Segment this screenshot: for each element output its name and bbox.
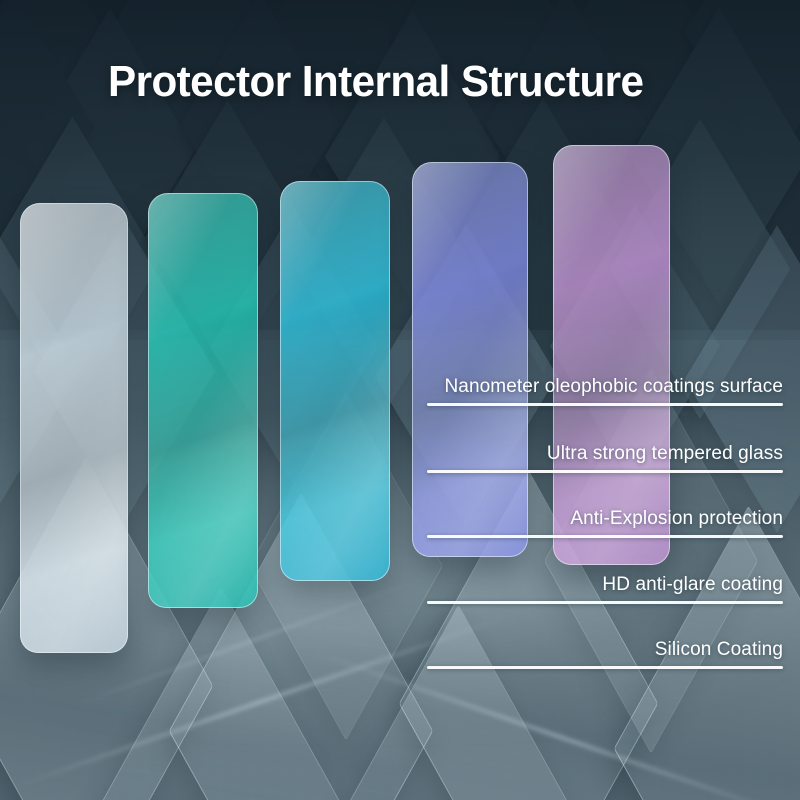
- layer-panel-1: [20, 203, 128, 653]
- callout-rule: [427, 601, 783, 604]
- panel-edge: [20, 203, 128, 653]
- callout-2: Ultra strong tempered glass: [427, 439, 783, 473]
- callout-label: Silicon Coating: [655, 638, 783, 662]
- callout-label: Ultra strong tempered glass: [547, 442, 783, 466]
- panel-edge: [553, 145, 670, 565]
- panel-edge: [280, 181, 390, 581]
- callout-rule: [427, 470, 783, 473]
- layer-panel-4: [412, 162, 528, 557]
- callout-3: Anti-Explosion protection: [427, 504, 783, 538]
- callout-rule: [427, 403, 783, 406]
- callout-rule: [427, 666, 783, 669]
- callout-label: HD anti-glare coating: [602, 573, 783, 597]
- callout-label: Nanometer oleophobic coatings surface: [444, 375, 783, 399]
- panel-edge: [412, 162, 528, 557]
- callout-1: Nanometer oleophobic coatings surface: [427, 372, 783, 406]
- layer-panel-5: [553, 145, 670, 565]
- layer-panel-3: [280, 181, 390, 581]
- page-title: Protector Internal Structure: [108, 56, 732, 108]
- panel-edge: [148, 193, 258, 608]
- callout-5: Silicon Coating: [427, 635, 783, 669]
- product-poster: Protector Internal Structure Nanometer o…: [0, 0, 800, 800]
- callout-label: Anti-Explosion protection: [570, 507, 783, 531]
- callout-rule: [427, 535, 783, 538]
- callout-4: HD anti-glare coating: [427, 570, 783, 604]
- layer-panel-2: [148, 193, 258, 608]
